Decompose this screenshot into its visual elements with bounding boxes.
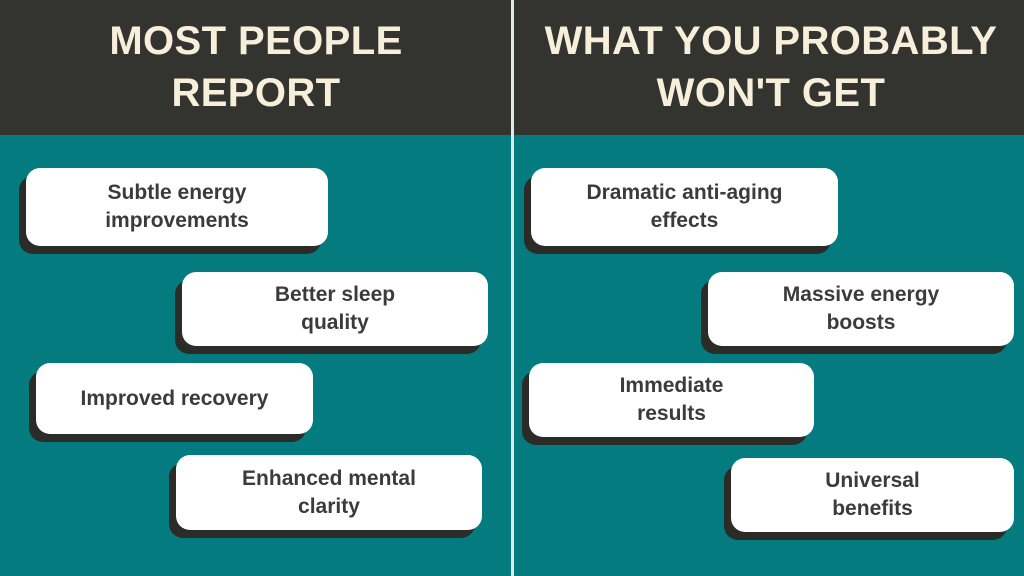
- card-label: Dramatic anti-aging effects: [586, 179, 782, 234]
- card-list-left: Subtle energy improvements Better sleep …: [0, 135, 512, 576]
- column-what-you-probably-wont-get: WHAT YOU PROBABLY WON'T GET Dramatic ant…: [512, 0, 1024, 576]
- card-list-right: Dramatic anti-aging effects Massive ener…: [512, 135, 1024, 576]
- card-label: Subtle energy improvements: [105, 179, 249, 234]
- card-label: Improved recovery: [81, 385, 269, 413]
- column-divider: [511, 0, 514, 576]
- header-band-right: WHAT YOU PROBABLY WON'T GET: [512, 0, 1024, 135]
- list-item: Dramatic anti-aging effects: [531, 168, 838, 246]
- list-item: Enhanced mental clarity: [176, 455, 482, 530]
- page-title-right: WHAT YOU PROBABLY WON'T GET: [518, 16, 1024, 118]
- list-item: Immediate results: [529, 363, 814, 437]
- card-label: Universal benefits: [825, 467, 920, 522]
- column-most-people-report: MOST PEOPLE REPORT Subtle energy improve…: [0, 0, 512, 576]
- card-label: Enhanced mental clarity: [242, 465, 416, 520]
- list-item: Better sleep quality: [182, 272, 488, 346]
- page-title-left: MOST PEOPLE REPORT: [91, 16, 420, 118]
- list-item: Improved recovery: [36, 363, 313, 434]
- list-item: Subtle energy improvements: [26, 168, 328, 246]
- card-label: Immediate results: [620, 372, 724, 427]
- list-item: Universal benefits: [731, 458, 1014, 532]
- list-item: Massive energy boosts: [708, 272, 1014, 346]
- comparison-poster: MOST PEOPLE REPORT Subtle energy improve…: [0, 0, 1024, 576]
- card-label: Better sleep quality: [275, 281, 395, 336]
- header-band-left: MOST PEOPLE REPORT: [0, 0, 512, 135]
- card-label: Massive energy boosts: [783, 281, 939, 336]
